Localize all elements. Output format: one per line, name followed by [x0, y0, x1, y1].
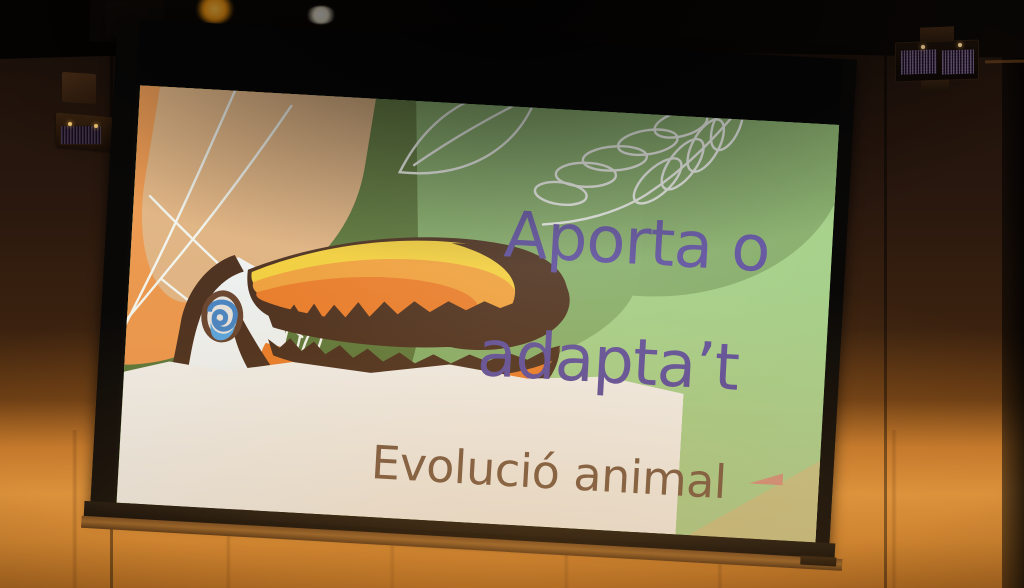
- slide-title-line-2: adapta’t: [475, 317, 740, 406]
- speaker-grille-left: [60, 125, 102, 145]
- auditorium-scene: Aporta o adapta’t Evolució animal: [0, 0, 1024, 588]
- wall-bracket-left: [62, 72, 96, 104]
- projection-screen: Aporta o adapta’t Evolució animal: [89, 18, 857, 571]
- speaker-grille-right-1: [901, 49, 937, 74]
- presentation-slide[interactable]: Aporta o adapta’t Evolució animal: [117, 85, 840, 542]
- wall-edge-right: [1002, 0, 1024, 588]
- speaker-grille-right-2: [942, 49, 974, 74]
- slide-title-line-1: Aporta o: [502, 198, 771, 287]
- white-spotlight-icon: [306, 6, 336, 24]
- speaker-led-right-2: [958, 43, 962, 47]
- speaker-led-right-1: [921, 45, 925, 49]
- speaker-led-left-2: [94, 124, 98, 128]
- slide-canvas: Aporta o adapta’t Evolució animal: [117, 85, 840, 542]
- speaker-led-left-1: [68, 122, 72, 126]
- wall-seam-right: [884, 0, 887, 588]
- speaker-mount-right: [921, 80, 949, 94]
